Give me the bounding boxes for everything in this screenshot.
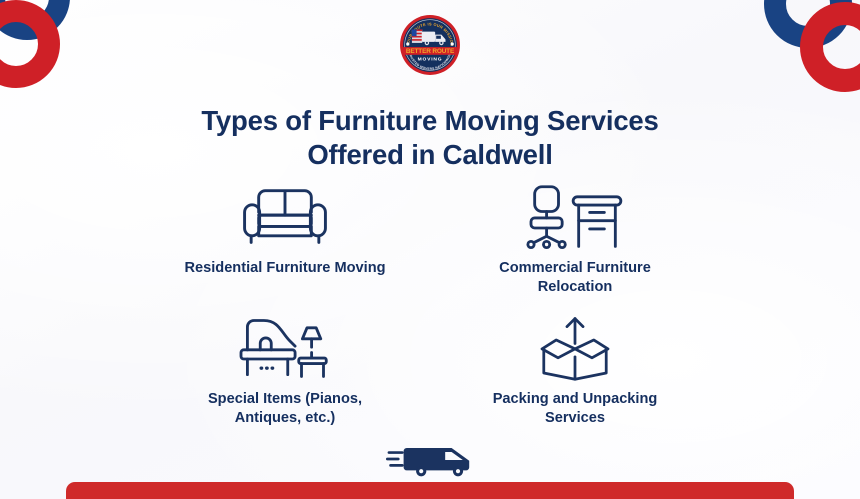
piano-lamp-icon bbox=[236, 315, 334, 381]
moving-van-icon bbox=[386, 443, 474, 477]
page-title-line-2: Offered in Caldwell bbox=[0, 138, 860, 172]
office-desk-chair-icon bbox=[525, 184, 625, 250]
page-title: Types of Furniture Moving Services Offer… bbox=[0, 104, 860, 171]
truck-container bbox=[0, 443, 860, 477]
svg-text:MOVING: MOVING bbox=[418, 57, 443, 63]
service-item-residential-furniture-moving: Residential Furniture Moving bbox=[140, 184, 430, 297]
service-label: Special Items (Pianos, Antiques, etc.) bbox=[178, 390, 393, 428]
sofa-icon bbox=[238, 184, 332, 250]
service-item-commercial-furniture-relocation: Commercial Furniture Relocation bbox=[430, 184, 720, 297]
bottom-red-bar bbox=[66, 482, 794, 499]
svg-text:BETTER ROUTE: BETTER ROUTE bbox=[406, 48, 455, 55]
logo-container: YOUR ROUTE IS OUR MISSION TRUSTED MOVERS… bbox=[0, 14, 860, 76]
service-label: Packing and Unpacking Services bbox=[468, 390, 683, 428]
page-title-line-1: Types of Furniture Moving Services bbox=[0, 104, 860, 138]
service-item-packing-unpacking: Packing and Unpacking Services bbox=[430, 315, 720, 428]
poster-canvas: YOUR ROUTE IS OUR MISSION TRUSTED MOVERS… bbox=[0, 0, 860, 499]
services-grid: Residential Furniture Moving bbox=[140, 184, 720, 428]
open-box-arrow-icon bbox=[533, 315, 617, 381]
service-label: Commercial Furniture Relocation bbox=[468, 259, 683, 297]
better-route-moving-logo: YOUR ROUTE IS OUR MISSION TRUSTED MOVERS… bbox=[399, 14, 461, 76]
service-item-special-items: Special Items (Pianos, Antiques, etc.) bbox=[140, 315, 430, 428]
service-label: Residential Furniture Moving bbox=[184, 259, 385, 278]
